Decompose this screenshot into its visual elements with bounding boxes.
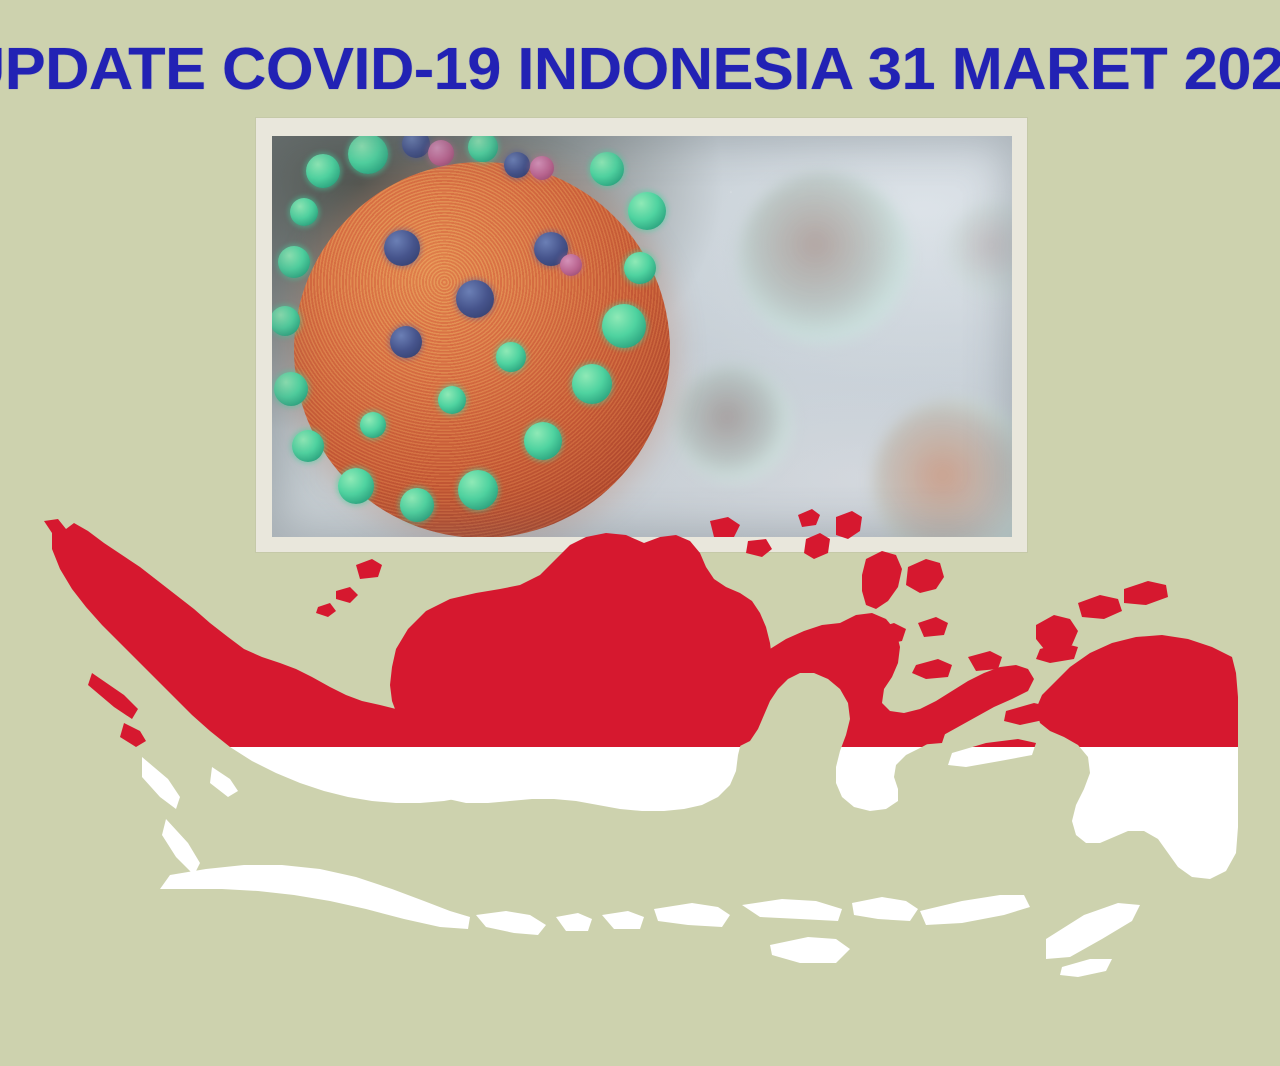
indonesia-map xyxy=(0,497,1280,977)
spike-protein-icon xyxy=(274,372,308,406)
spike-protein-icon xyxy=(390,326,422,358)
spike-protein-icon xyxy=(590,152,624,186)
poster-canvas: UPDATE COVID-19 INDONESIA 31 MARET 2022 xyxy=(0,0,1280,1066)
photo-frame xyxy=(256,118,1027,552)
spike-protein-icon xyxy=(360,412,386,438)
spike-protein-icon xyxy=(384,230,420,266)
spike-protein-icon xyxy=(290,198,318,226)
spike-protein-icon xyxy=(572,364,612,404)
title-bar: UPDATE COVID-19 INDONESIA 31 MARET 2022 xyxy=(0,34,1280,104)
coronavirus-photo xyxy=(272,136,1012,537)
map-flag-fill xyxy=(0,497,1280,977)
indonesia-map-svg xyxy=(0,497,1280,977)
spike-protein-icon xyxy=(524,422,562,460)
spike-protein-icon xyxy=(602,304,646,348)
spike-protein-icon xyxy=(530,156,554,180)
spike-protein-icon xyxy=(624,252,656,284)
spike-protein-icon xyxy=(428,140,454,166)
spike-protein-icon xyxy=(438,386,466,414)
spike-protein-icon xyxy=(560,254,582,276)
spike-protein-icon xyxy=(496,342,526,372)
spike-protein-icon xyxy=(456,280,494,318)
flag-white-band xyxy=(0,747,1280,977)
spike-protein-icon xyxy=(278,246,310,278)
spike-protein-icon xyxy=(292,430,324,462)
spike-protein-icon xyxy=(504,152,530,178)
blurred-virion-icon xyxy=(674,364,792,482)
flag-red-band xyxy=(0,497,1280,747)
page-title: UPDATE COVID-19 INDONESIA 31 MARET 2022 xyxy=(0,40,1280,99)
spike-protein-icon xyxy=(306,154,340,188)
spike-protein-icon xyxy=(628,192,666,230)
blurred-virion-icon xyxy=(738,172,910,344)
